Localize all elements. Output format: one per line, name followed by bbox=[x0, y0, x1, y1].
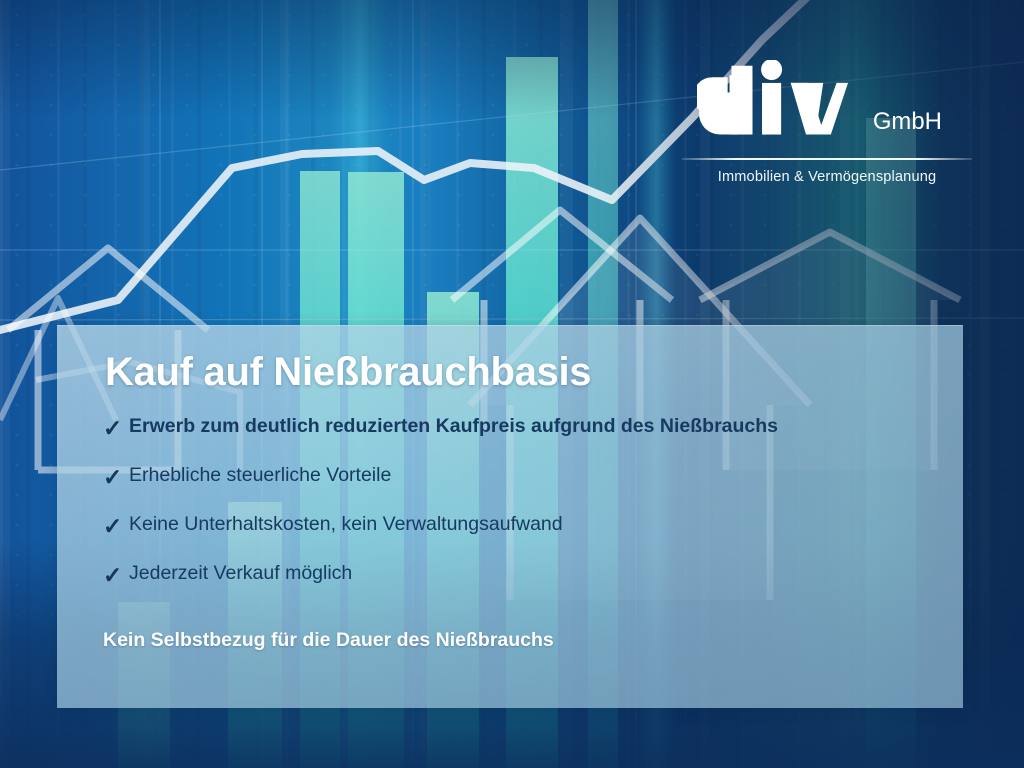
check-icon: ✓ bbox=[103, 415, 129, 440]
list-item-label: Erhebliche steuerliche Vorteile bbox=[129, 464, 391, 487]
panel-footnote: Kein Selbstbezug für die Dauer des Nießb… bbox=[103, 629, 929, 652]
list-item-label: Jederzeit Verkauf möglich bbox=[129, 562, 352, 585]
poster-canvas: GmbH Immobilien & Vermögensplanung Kauf … bbox=[0, 0, 1024, 768]
giv-logo-icon: GmbH bbox=[682, 60, 972, 146]
list-item: ✓ Erwerb zum deutlich reduzierten Kaufpr… bbox=[83, 415, 929, 464]
company-logo: GmbH Immobilien & Vermögensplanung bbox=[682, 60, 972, 185]
list-item-label: Keine Unterhaltskosten, kein Verwaltungs… bbox=[129, 513, 563, 536]
list-item-label: Erwerb zum deutlich reduzierten Kaufprei… bbox=[129, 415, 778, 438]
logo-divider bbox=[682, 158, 972, 160]
list-item: ✓ Erhebliche steuerliche Vorteile bbox=[83, 464, 929, 513]
benefits-list: ✓ Erwerb zum deutlich reduzierten Kaufpr… bbox=[83, 415, 929, 611]
logo-legal-form: GmbH bbox=[873, 108, 942, 135]
list-item: ✓ Jederzeit Verkauf möglich bbox=[83, 562, 929, 611]
content-panel: Kauf auf Nießbrauchbasis ✓ Erwerb zum de… bbox=[57, 325, 963, 708]
check-icon: ✓ bbox=[103, 464, 129, 489]
check-icon: ✓ bbox=[103, 513, 129, 538]
list-item: ✓ Keine Unterhaltskosten, kein Verwaltun… bbox=[83, 513, 929, 562]
page-title: Kauf auf Nießbrauchbasis bbox=[105, 350, 929, 395]
check-icon: ✓ bbox=[103, 562, 129, 587]
logo-tagline: Immobilien & Vermögensplanung bbox=[682, 169, 972, 185]
